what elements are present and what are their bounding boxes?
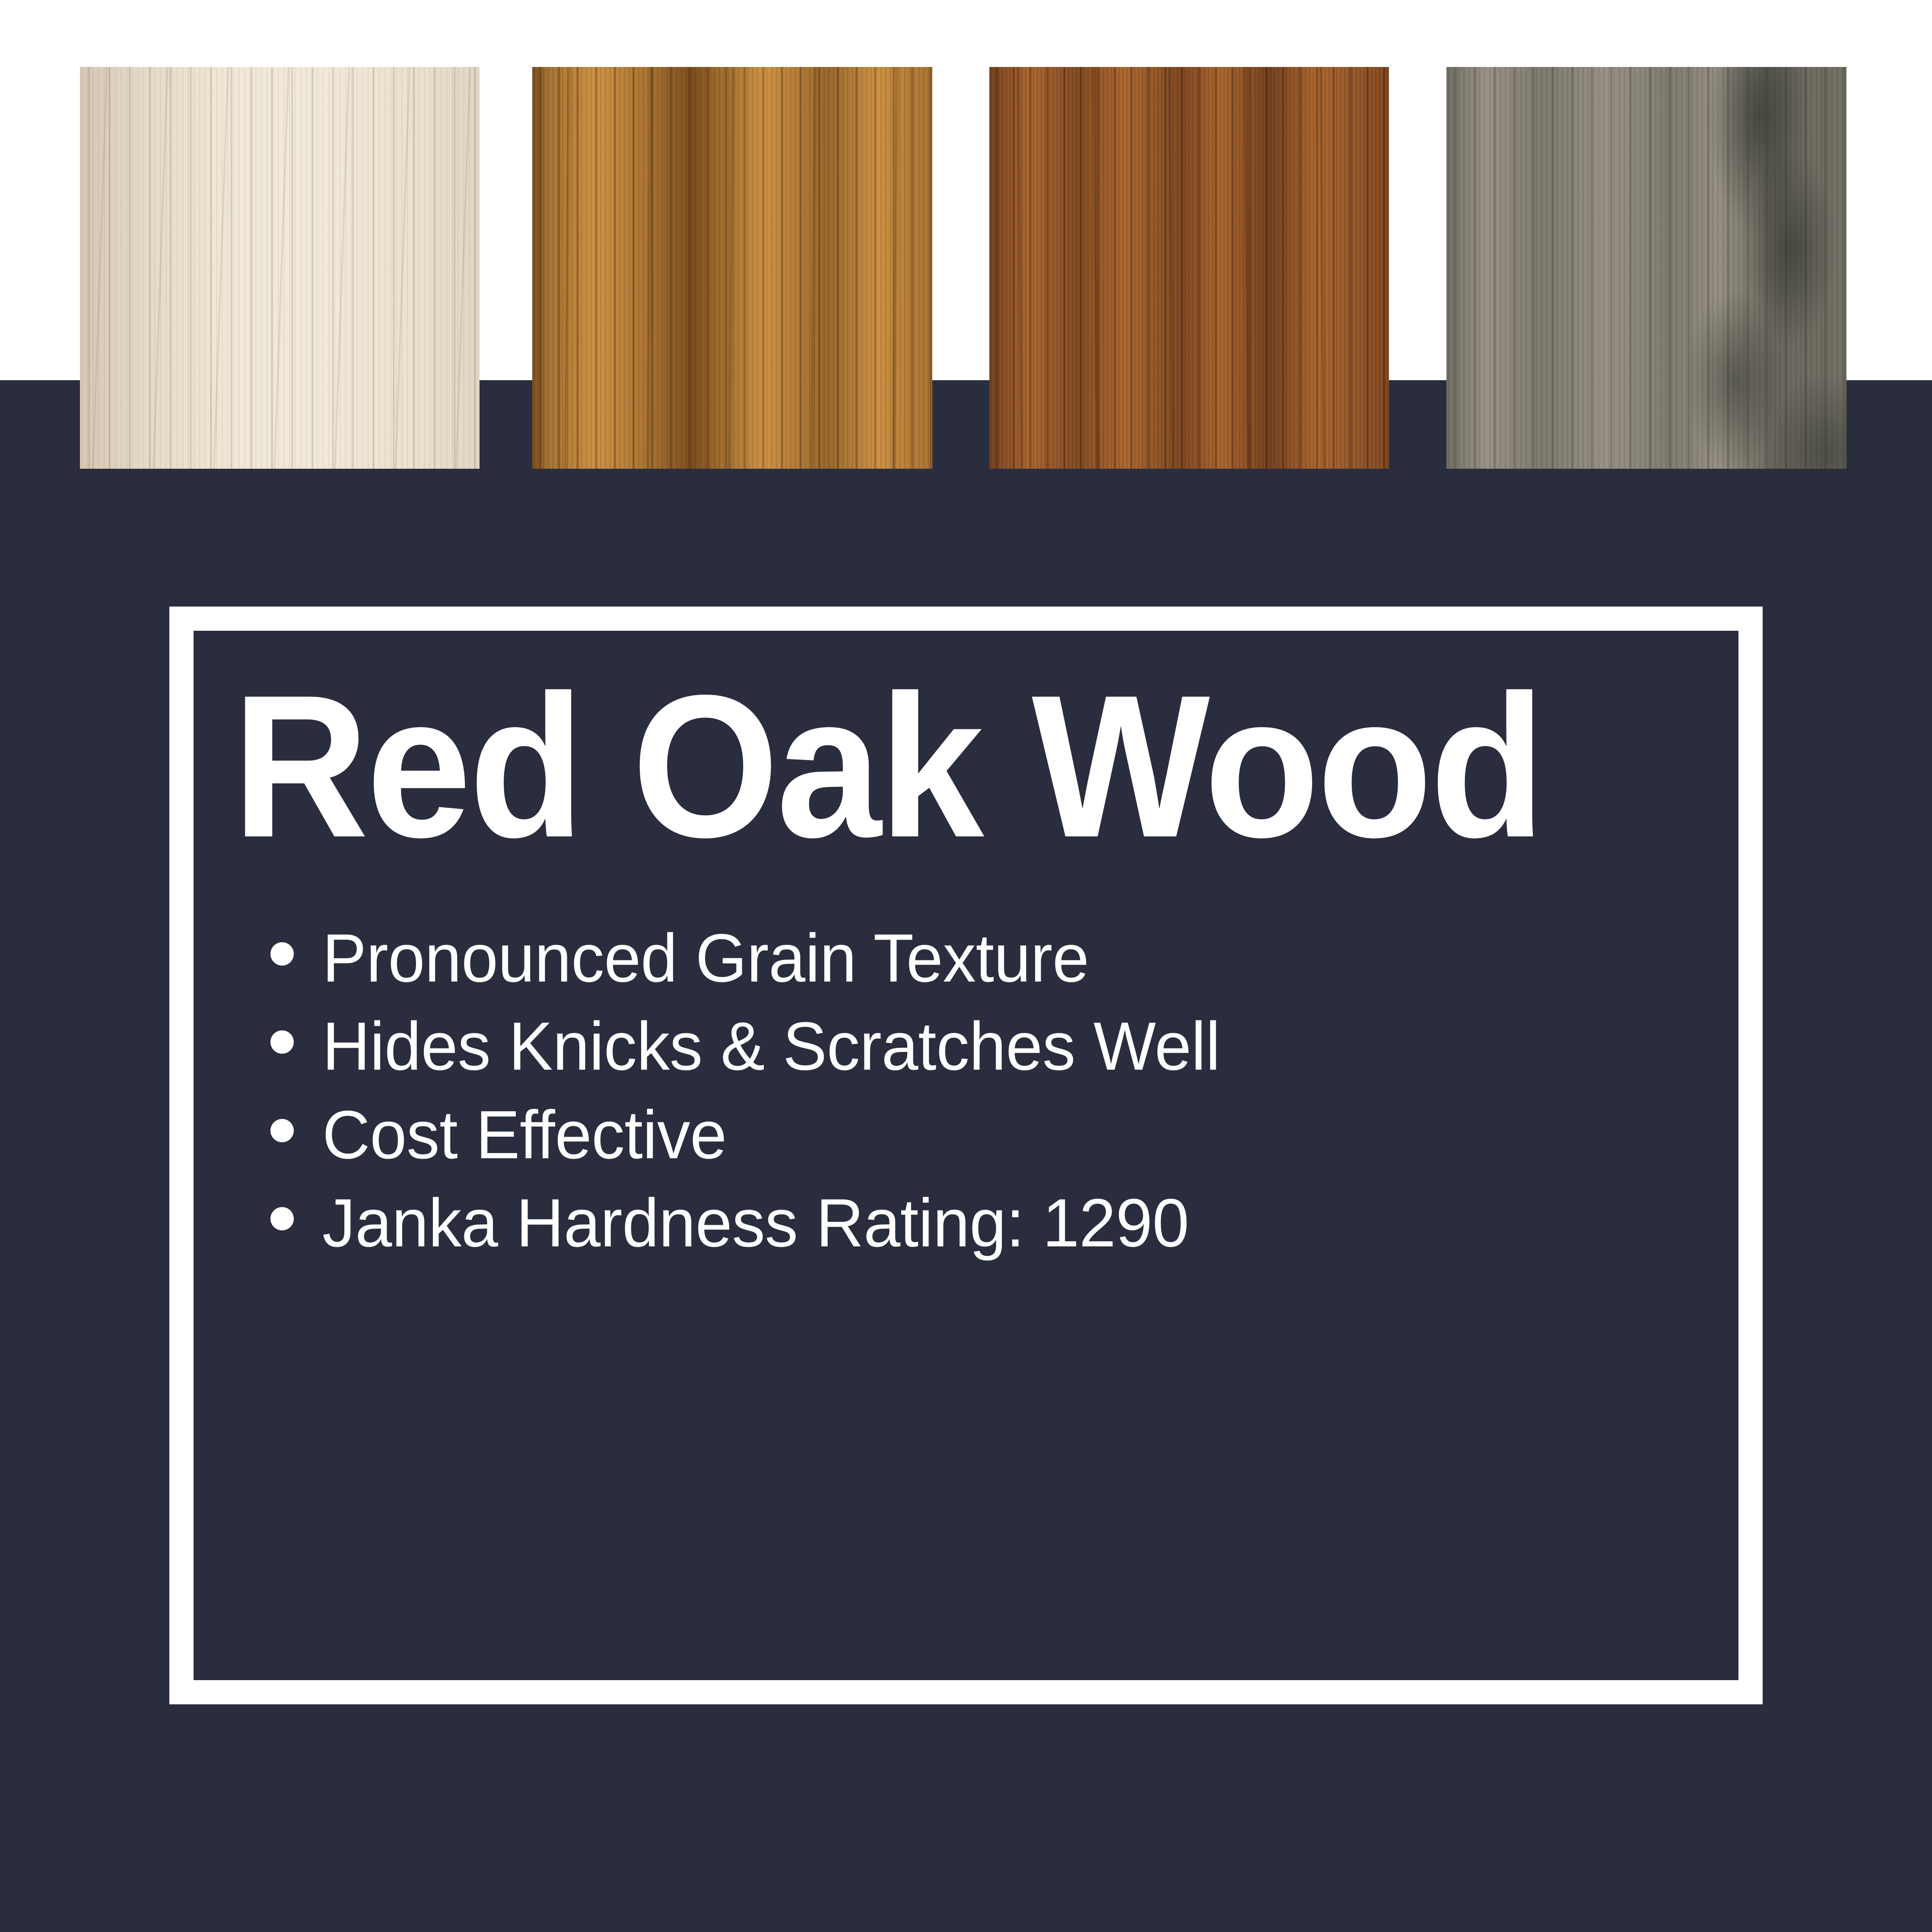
content-frame: Red Oak Wood Pronounced Grain Texture Hi… [169, 607, 1763, 1704]
list-item: Hides Knicks & Scratches Well [270, 1010, 1700, 1084]
feature-label: Cost Effective [322, 1098, 727, 1172]
wood-grain-cathedral-icon [532, 67, 932, 469]
wood-swatch-medium-red-oak [989, 67, 1389, 469]
wood-grain-cathedral-icon [1446, 67, 1846, 469]
wood-swatch-golden-honey-oak [532, 67, 932, 469]
list-item: Janka Hardness Rating: 1290 [270, 1186, 1700, 1260]
feature-label: Pronounced Grain Texture [322, 922, 1089, 995]
feature-list: Pronounced Grain Texture Hides Knicks & … [232, 922, 1700, 1261]
bullet-dot-icon [270, 1207, 294, 1230]
bullet-dot-icon [270, 1119, 294, 1142]
bullet-dot-icon [270, 1030, 294, 1054]
bullet-dot-icon [270, 942, 294, 966]
wood-swatch-white-washed-oak [80, 67, 480, 469]
wood-swatch-strip [0, 0, 1932, 469]
wood-grain-cathedral-icon [989, 67, 1389, 469]
content-frame-inner: Red Oak Wood Pronounced Grain Texture Hi… [194, 631, 1738, 1680]
feature-label: Hides Knicks & Scratches Well [322, 1010, 1220, 1084]
feature-label: Janka Hardness Rating: 1290 [322, 1186, 1189, 1260]
list-item: Cost Effective [270, 1098, 1700, 1172]
wood-grain-cathedral-icon [80, 67, 480, 469]
list-item: Pronounced Grain Texture [270, 922, 1700, 995]
wood-swatch-weathered-grey-oak [1446, 67, 1846, 469]
page-title: Red Oak Wood [232, 667, 1597, 866]
